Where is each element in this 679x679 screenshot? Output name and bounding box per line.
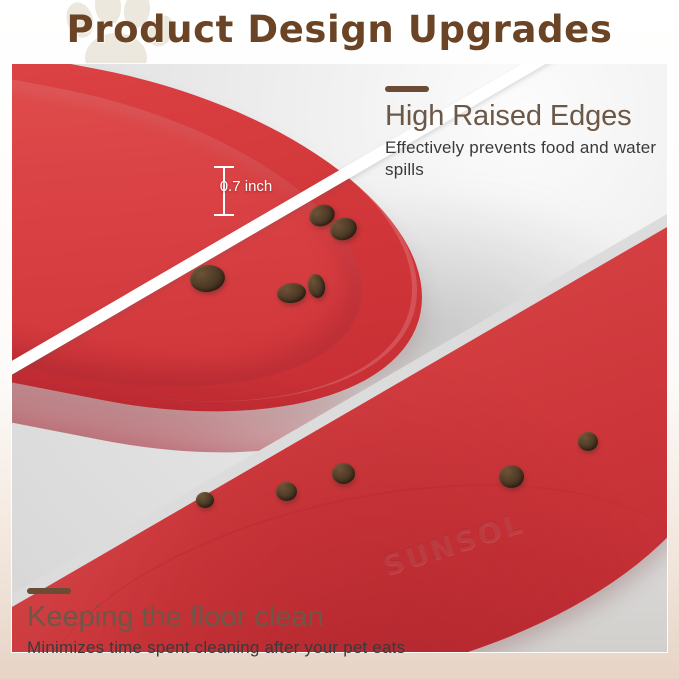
feature-subtitle: Effectively prevents food and water spil… (385, 137, 665, 181)
feature-block-raised-edges: High Raised Edges Effectively prevents f… (385, 86, 665, 181)
kibble-bottom (578, 432, 598, 451)
accent-dash-icon (385, 86, 429, 92)
dimension-label: 0.7 inch (198, 178, 294, 195)
infographic-page: Product Design Upgrades 0.7 inch (0, 0, 679, 679)
kibble-bottom (332, 463, 355, 484)
kibble-bottom (499, 465, 524, 488)
feature-block-floor-clean: Keeping the floor clean Minimizes time s… (27, 588, 647, 658)
kibble-bottom (196, 492, 214, 508)
feature-subtitle: Minimizes time spent cleaning after your… (27, 638, 647, 658)
feature-heading: Keeping the floor clean (27, 601, 647, 634)
accent-dash-icon (27, 588, 71, 594)
feature-heading: High Raised Edges (385, 100, 665, 133)
dimension-cap-bottom (214, 214, 234, 216)
header: Product Design Upgrades (0, 0, 679, 66)
page-title: Product Design Upgrades (0, 8, 679, 51)
kibble-bottom (276, 482, 297, 501)
